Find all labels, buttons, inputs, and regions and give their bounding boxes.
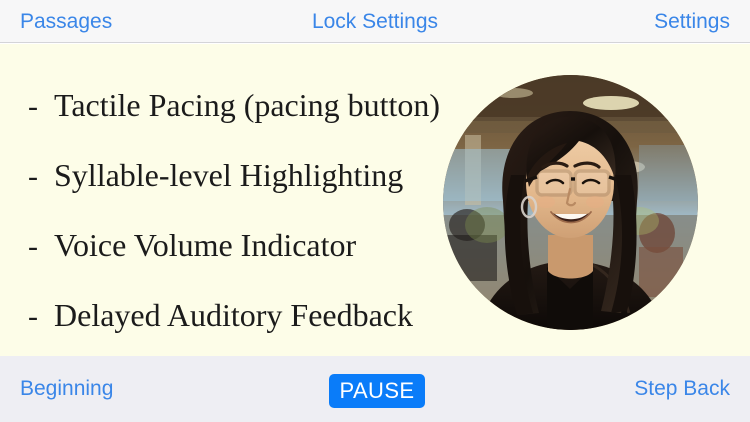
list-item-label: Voice Volume Indicator [54, 210, 488, 280]
list-item: - Syllable-level Highlighting [28, 140, 488, 210]
list-item-label: Tactile Pacing (pacing button) [54, 70, 488, 140]
list-item-label: Syllable-level Highlighting [54, 140, 488, 210]
content-panel: - Tactile Pacing (pacing button) - Sylla… [0, 44, 750, 356]
list-item: - Delayed Auditory Feedback [28, 280, 488, 350]
step-back-button[interactable]: Step Back [634, 356, 730, 422]
nav-title-lock-settings[interactable]: Lock Settings [0, 0, 750, 43]
beginning-button[interactable]: Beginning [20, 356, 113, 422]
feature-list: - Tactile Pacing (pacing button) - Sylla… [28, 70, 488, 350]
app-screen: Passages Lock Settings Settings - Tactil… [0, 0, 750, 422]
dash-bullet-icon: - [28, 212, 54, 282]
list-item: - Voice Volume Indicator [28, 210, 488, 280]
navigation-bar: Passages Lock Settings Settings [0, 0, 750, 43]
dash-bullet-icon: - [28, 282, 54, 352]
dash-bullet-icon: - [28, 72, 54, 142]
settings-button[interactable]: Settings [654, 0, 730, 43]
dash-bullet-icon: - [28, 142, 54, 212]
pause-button[interactable]: PAUSE [329, 374, 425, 408]
presenter-photo [443, 75, 698, 330]
list-item: - Tactile Pacing (pacing button) [28, 70, 488, 140]
list-item-label: Delayed Auditory Feedback [54, 280, 488, 350]
